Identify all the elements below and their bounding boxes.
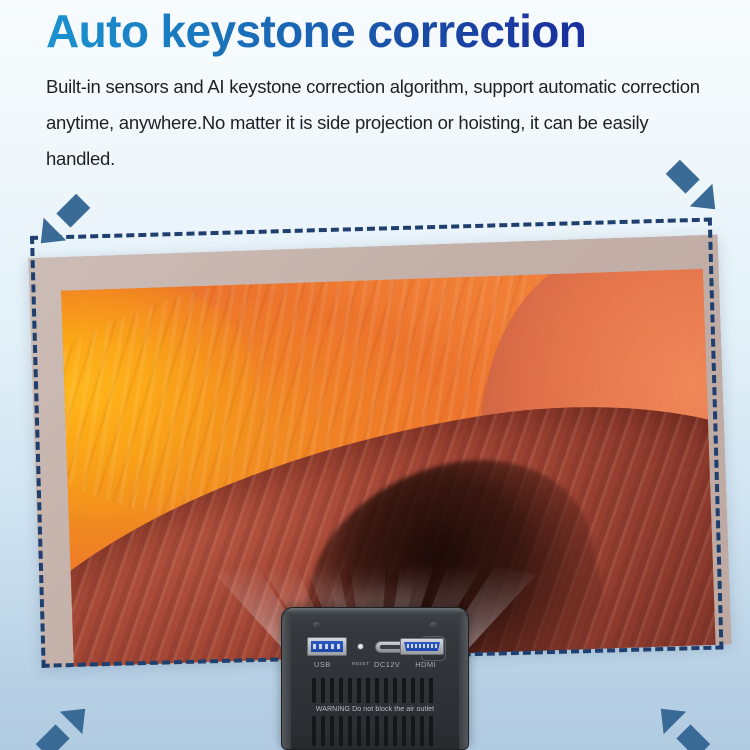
- projector-left-edge: [282, 612, 291, 749]
- projector-right-edge: [459, 612, 468, 749]
- port-labels: USB RESET DC12V HDMI: [282, 660, 468, 672]
- arrow-top-right: [658, 152, 730, 224]
- arrow-bottom-right: [646, 694, 718, 750]
- air-vent-bottom: [312, 716, 438, 746]
- promo-page: Auto keystone correction Built-in sensor…: [0, 0, 750, 750]
- page-title: Auto keystone correction: [46, 6, 704, 58]
- projector-top-edge: [282, 608, 468, 615]
- air-vent-top: [312, 678, 438, 703]
- arrow-top-left: [26, 186, 98, 258]
- usb-port-label: USB: [314, 660, 331, 669]
- reset-label: RESET: [352, 661, 369, 666]
- usb-port[interactable]: [307, 637, 347, 656]
- dc-port-label: DC12V: [374, 660, 400, 669]
- header: Auto keystone correction Built-in sensor…: [0, 0, 750, 177]
- hdmi-port-label: HDMI: [415, 660, 436, 669]
- screw-icon-right: [430, 622, 437, 629]
- hdmi-port[interactable]: [400, 638, 444, 655]
- warning-text: WARNING Do not block the air outlet: [282, 706, 468, 713]
- page-subtitle: Built-in sensors and AI keystone correct…: [46, 69, 704, 177]
- arrow-bottom-left: [28, 694, 100, 750]
- mini-projector[interactable]: USB RESET DC12V HDMI WARNING Do not bloc…: [281, 607, 469, 750]
- screw-icon-left: [313, 622, 320, 629]
- reset-pinhole[interactable]: [358, 644, 363, 649]
- usb-port-inner: [311, 641, 343, 652]
- port-row: [282, 634, 468, 660]
- projected-screen: [28, 235, 732, 668]
- hdmi-port-inner: [404, 642, 440, 651]
